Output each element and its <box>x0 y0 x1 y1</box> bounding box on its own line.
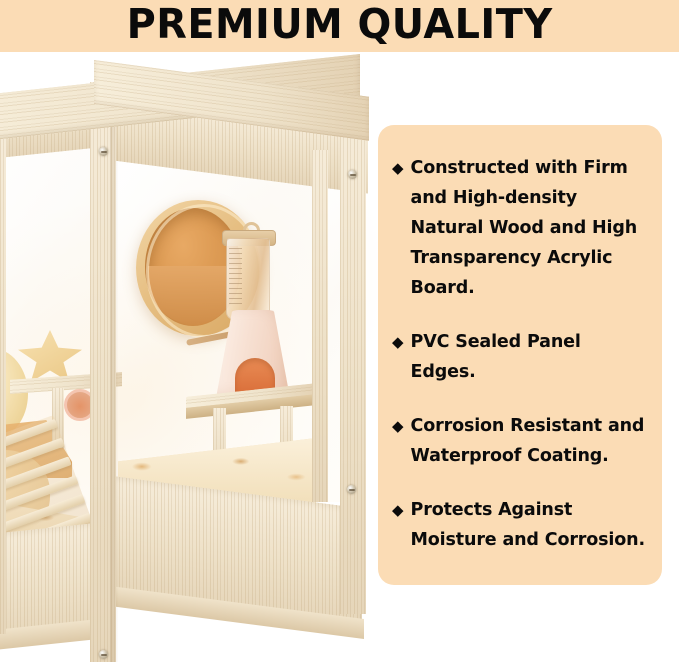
diamond-bullet-icon: ◆ <box>392 153 404 183</box>
feature-bullet-text: PVC Sealed Panel Edges. <box>411 327 646 387</box>
cage-post-left <box>0 114 6 634</box>
feature-list-panel: ◆ Constructed with Firm and High-density… <box>378 125 662 585</box>
diamond-bullet-icon: ◆ <box>392 495 404 525</box>
feature-bullet-item: ◆ Constructed with Firm and High-density… <box>392 153 646 303</box>
cage-stile-right-inner <box>312 150 328 502</box>
assembly-screw-icon <box>348 170 357 179</box>
water-bottle-measurement-scale <box>229 248 242 308</box>
feature-bullet-item: ◆ Corrosion Resistant and Waterproof Coa… <box>392 411 646 471</box>
cage-post-right <box>340 114 366 614</box>
banner-title: PREMIUM QUALITY <box>126 4 552 48</box>
feature-bullet-text: Protects Against Moisture and Corrosion. <box>411 495 646 555</box>
assembly-screw-icon <box>347 485 356 494</box>
premium-quality-banner: PREMIUM QUALITY <box>0 0 679 52</box>
feature-bullet-text: Constructed with Firm and High-density N… <box>411 153 646 303</box>
feature-bullet-item: ◆ Protects Against Moisture and Corrosio… <box>392 495 646 555</box>
cage-post-front-shadow <box>110 82 118 662</box>
assembly-screw-icon <box>99 650 108 659</box>
feature-bullet-item: ◆ PVC Sealed Panel Edges. <box>392 327 646 387</box>
diamond-bullet-icon: ◆ <box>392 411 404 441</box>
assembly-screw-icon <box>99 147 108 156</box>
diamond-bullet-icon: ◆ <box>392 327 404 357</box>
feature-bullet-text: Corrosion Resistant and Waterproof Coati… <box>411 411 646 471</box>
